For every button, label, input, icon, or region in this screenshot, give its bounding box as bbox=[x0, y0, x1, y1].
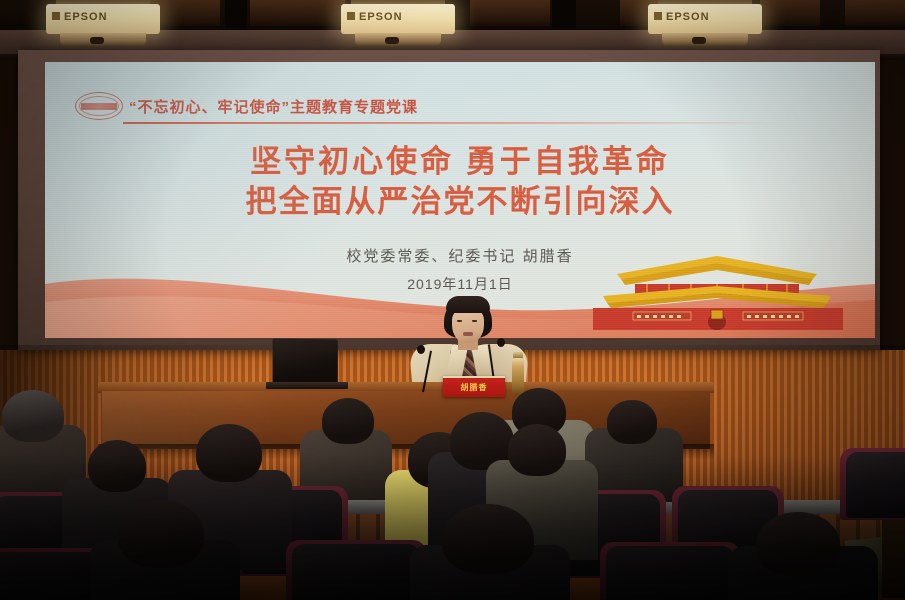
ceiling-panel bbox=[250, 0, 345, 26]
slide-title: 坚守初心使命 勇于自我革命 把全面从严治党不断引向深入 bbox=[45, 142, 875, 221]
audience-head bbox=[2, 390, 64, 442]
slide-title-line2: 把全面从严治党不断引向深入 bbox=[45, 182, 875, 222]
projector-body: EPSON bbox=[46, 4, 160, 34]
projector-lens-icon bbox=[692, 37, 706, 44]
slide-header-text: “不忘初心、牢记使命”主题教育专题党课 bbox=[129, 96, 418, 117]
projector-brand-label: EPSON bbox=[64, 11, 108, 23]
audience-head bbox=[88, 440, 146, 492]
slide-header: “不忘初心、牢记使命”主题教育专题党课 bbox=[75, 92, 418, 120]
audience-head bbox=[508, 424, 566, 476]
audience-head bbox=[756, 512, 840, 576]
projector-body: EPSON bbox=[341, 4, 455, 34]
epson-logo-mark-icon bbox=[347, 12, 355, 20]
slide-title-line1: 坚守初心使命 勇于自我革命 bbox=[45, 142, 875, 182]
projector-right: EPSON bbox=[640, 4, 770, 48]
ceiling-panel bbox=[845, 0, 905, 26]
seat bbox=[292, 544, 420, 600]
audience-head bbox=[607, 400, 657, 444]
ceiling-gap bbox=[225, 0, 247, 30]
presenter-eye-left bbox=[457, 320, 462, 322]
projector-center: EPSON bbox=[333, 4, 463, 48]
seat bbox=[0, 552, 104, 600]
name-plate-text: 胡腊香 bbox=[443, 378, 505, 397]
ceiling-gap bbox=[552, 0, 576, 30]
seat bbox=[606, 546, 734, 600]
projector-lens-icon bbox=[385, 37, 399, 44]
projector-brand-label: EPSON bbox=[666, 11, 710, 23]
epson-logo-mark-icon bbox=[654, 12, 662, 20]
audience-head bbox=[118, 500, 204, 568]
audience-head bbox=[322, 398, 374, 444]
name-plate: 胡腊香 bbox=[443, 376, 505, 397]
projector-left: EPSON bbox=[38, 4, 168, 48]
laptop-base bbox=[266, 382, 348, 389]
presenter-fringe bbox=[446, 296, 490, 313]
laptop-screen bbox=[273, 338, 338, 384]
university-seal-icon bbox=[75, 92, 123, 120]
seat bbox=[846, 452, 905, 518]
projector-lens-icon bbox=[90, 37, 104, 44]
audience-head bbox=[196, 424, 262, 482]
presenter-eye-right bbox=[472, 320, 477, 322]
projector-brand-label: EPSON bbox=[359, 11, 403, 23]
tiananmen-gate-illustration bbox=[577, 248, 857, 332]
epson-logo-mark-icon bbox=[52, 12, 60, 20]
microphone-head-icon bbox=[417, 345, 425, 354]
slide-header-rule bbox=[123, 122, 783, 124]
water-bottle bbox=[512, 358, 524, 394]
projector-body: EPSON bbox=[648, 4, 762, 34]
audience-head bbox=[442, 504, 534, 574]
presenter-mouth bbox=[463, 332, 473, 336]
lecture-hall-scene: EPSON EPSON EPSON “不忘初心、牢记使命”主题教育专题党课 bbox=[0, 0, 905, 600]
ceiling-panel bbox=[470, 0, 550, 26]
microphone-head-secondary-icon bbox=[497, 338, 505, 347]
